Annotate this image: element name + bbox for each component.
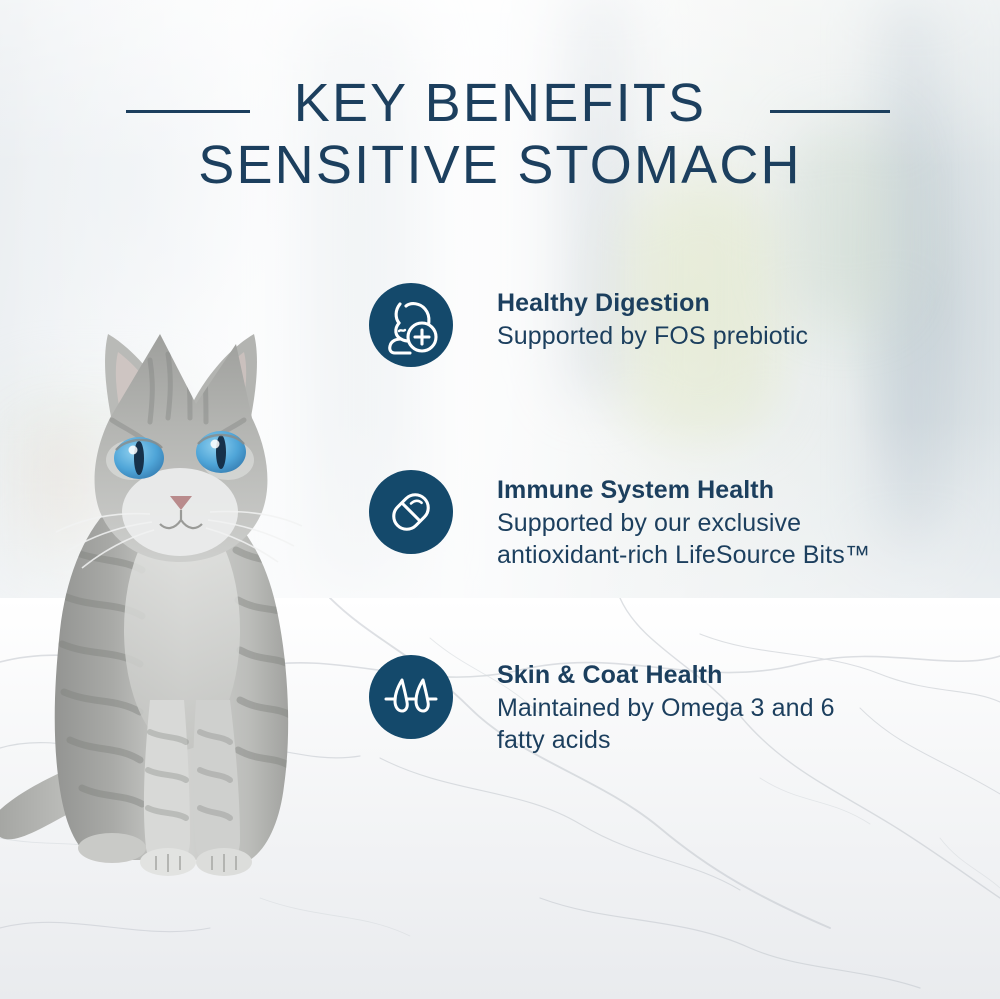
cat-pupil-right [216, 435, 226, 469]
benefit-item-immune-system-health: Immune System Health Supported by our ex… [369, 470, 870, 571]
benefit-description-line: Supported by our exclusive [497, 507, 870, 539]
benefit-item-healthy-digestion: Healthy Digestion Supported by FOS prebi… [369, 283, 808, 367]
page-title: KEY BENEFITS SENSITIVE STOMACH [0, 72, 1000, 196]
eye-glint-left [129, 446, 138, 455]
benefit-title: Skin & Coat Health [497, 659, 835, 692]
title-row-secondary: SENSITIVE STOMACH [0, 134, 1000, 196]
benefit-description: Supported by our exclusive antioxidant-r… [497, 507, 870, 571]
title-rule-right [770, 110, 890, 113]
cat-front-leg-left [144, 700, 190, 866]
hair-follicle-icon [380, 666, 442, 728]
title-line-2: SENSITIVE STOMACH [198, 135, 802, 195]
benefit-description-line: Maintained by Omega 3 and 6 [497, 692, 835, 724]
benefit-item-skin-coat-health: Skin & Coat Health Maintained by Omega 3… [369, 655, 835, 756]
benefit-description-line: Supported by FOS prebiotic [497, 320, 808, 352]
benefit-description-line: antioxidant-rich LifeSource Bits™ [497, 539, 870, 571]
title-rule-left [126, 110, 250, 113]
benefit-icon-badge [369, 470, 453, 554]
benefit-icon-badge [369, 283, 453, 367]
benefit-text-block: Immune System Health Supported by our ex… [497, 470, 870, 571]
cat-pupil-left [134, 441, 144, 475]
benefit-title: Healthy Digestion [497, 287, 808, 320]
benefit-text-block: Healthy Digestion Supported by FOS prebi… [497, 283, 808, 352]
title-line-1: KEY BENEFITS [294, 73, 707, 133]
benefit-text-block: Skin & Coat Health Maintained by Omega 3… [497, 655, 835, 756]
cat-paw-rear [78, 833, 146, 863]
benefit-description-line: fatty acids [497, 724, 835, 756]
benefit-icon-badge [369, 655, 453, 739]
eye-glint-right [211, 440, 220, 449]
capsule-pill-icon [381, 482, 441, 542]
cat-photo [0, 300, 360, 900]
benefit-description: Supported by FOS prebiotic [497, 320, 808, 352]
title-row-primary: KEY BENEFITS [0, 72, 1000, 134]
stomach-plus-icon [380, 294, 442, 356]
promo-image: KEY BENEFITS SENSITIVE STOMACH [0, 0, 1000, 999]
benefit-title: Immune System Health [497, 474, 870, 507]
benefit-description: Maintained by Omega 3 and 6 fatty acids [497, 692, 835, 756]
